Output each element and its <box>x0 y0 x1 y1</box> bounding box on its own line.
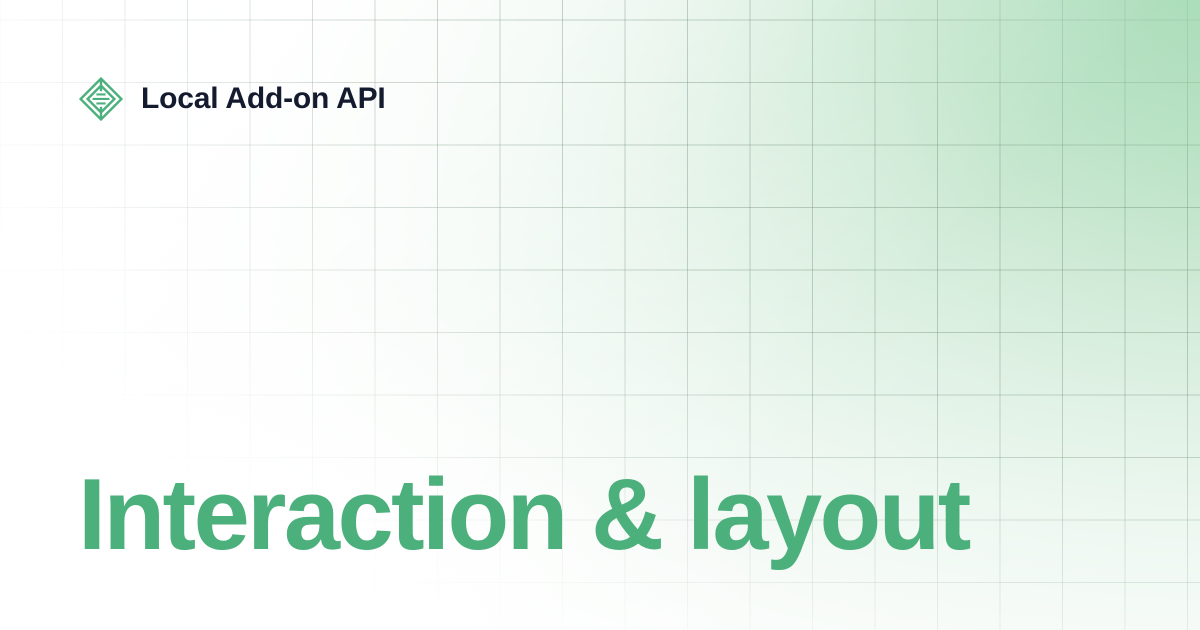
diamond-layers-logo-icon <box>78 76 124 122</box>
brand-name: Local Add-on API <box>141 84 386 114</box>
brand-lockup: Local Add-on API <box>78 76 386 122</box>
og-banner-card: Local Add-on API Interaction & layout <box>0 0 1200 630</box>
page-title: Interaction & layout <box>78 465 969 566</box>
